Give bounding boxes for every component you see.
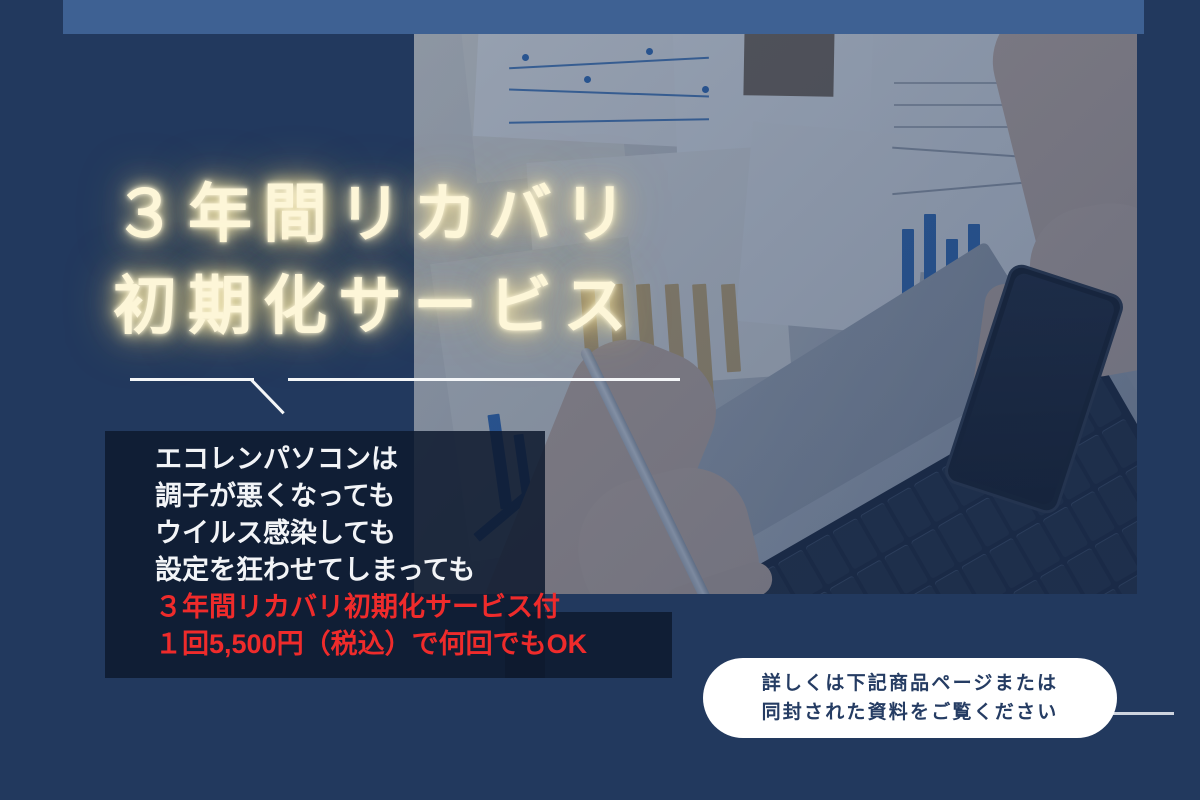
decorative-line-left <box>130 378 254 381</box>
top-accent-band <box>63 0 1144 34</box>
pill-line-1: 詳しくは下記商品ページまたは <box>762 669 1058 698</box>
body-line-highlight: １回5,500円（税込）で何回でもOK <box>155 626 587 663</box>
body-line: 調子が悪くなっても <box>155 478 587 515</box>
decorative-line-right <box>288 378 680 381</box>
headline-line-1: ３年間リカバリ <box>113 168 638 260</box>
body-line: 設定を狂わせてしまっても <box>155 552 587 589</box>
info-pill[interactable]: 詳しくは下記商品ページまたは 同封された資料をご覧ください <box>703 658 1117 738</box>
promo-banner: ３年間リカバリ 初期化サービス エコレンパソコンは 調子が悪くなっても ウイルス… <box>0 0 1200 800</box>
pill-line-2: 同封された資料をご覧ください <box>762 698 1059 727</box>
headline-line-2: 初期化サービス <box>113 260 638 352</box>
body-line-highlight: ３年間リカバリ初期化サービス付 <box>155 589 587 626</box>
body-line: ウイルス感染しても <box>155 515 587 552</box>
body-text-block: エコレンパソコンは 調子が悪くなっても ウイルス感染しても 設定を狂わせてしまっ… <box>155 441 587 663</box>
page-title: ３年間リカバリ 初期化サービス <box>113 168 638 352</box>
decorative-line-diagonal <box>250 378 285 414</box>
body-line: エコレンパソコンは <box>155 441 587 478</box>
